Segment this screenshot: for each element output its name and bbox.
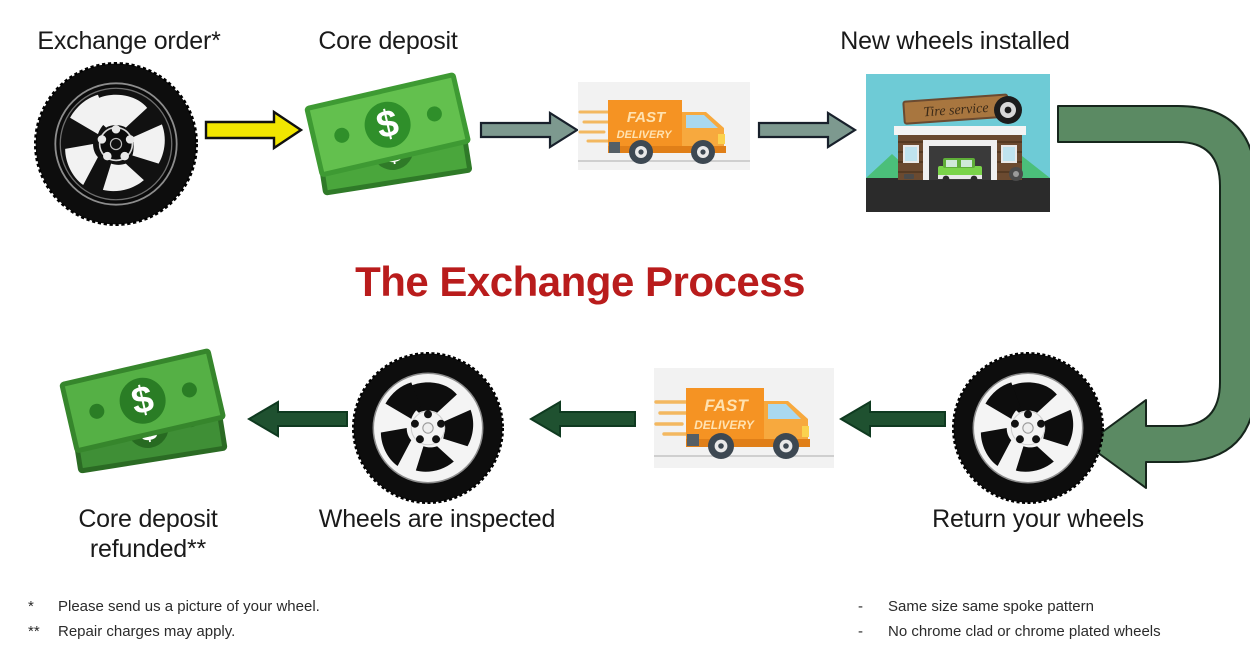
arrow-exchange-to-deposit: [204, 108, 304, 152]
footnote-right-2: - No chrome clad or chrome plated wheels: [858, 619, 1161, 644]
footnote-marker: -: [858, 619, 878, 644]
arrow-inspected-to-refund: [246, 400, 348, 438]
page-title: The Exchange Process: [0, 258, 1160, 306]
footnote-marker: *: [28, 594, 48, 619]
footnote-text: No chrome clad or chrome plated wheels: [888, 619, 1161, 644]
step-label-new-wheels-installed: New wheels installed: [790, 26, 1120, 56]
footnote-text: Same size same spoke pattern: [888, 594, 1094, 619]
footnotes-left: * Please send us a picture of your wheel…: [28, 594, 320, 644]
money-bills-icon-bottom: $ $: [58, 352, 234, 478]
arrow-return-to-shipping: [838, 400, 946, 438]
truck-text-fast: FAST: [704, 396, 749, 415]
fast-delivery-truck-icon-bottom: FAST DELIVERY: [654, 368, 834, 468]
footnotes-right: - Same size same spoke pattern - No chro…: [858, 594, 1161, 644]
alloy-wheel-light-icon-inspected: [352, 352, 504, 504]
alloy-wheel-dark-icon: [34, 62, 198, 226]
arrow-shipping-to-install: [758, 110, 858, 150]
tire-service-shop-icon: Tire service: [866, 74, 1050, 212]
truck-text-fast: FAST: [627, 109, 667, 126]
arrow-deposit-to-shipping: [480, 110, 580, 150]
footnote-left-1: * Please send us a picture of your wheel…: [28, 594, 320, 619]
fast-delivery-truck-icon-top: FAST DELIVERY: [578, 82, 750, 170]
footnote-left-2: ** Repair charges may apply.: [28, 619, 320, 644]
step-label-return-your-wheels: Return your wheels: [888, 504, 1188, 534]
arrow-shipping-to-inspected: [528, 400, 636, 438]
footnote-marker: -: [858, 594, 878, 619]
step-label-core-deposit: Core deposit: [268, 26, 508, 56]
footnote-right-1: - Same size same spoke pattern: [858, 594, 1161, 619]
truck-text-delivery: DELIVERY: [694, 418, 755, 432]
step-label-core-deposit-refunded: Core deposit refunded**: [22, 504, 274, 564]
infographic-canvas: Exchange order* Core deposit New wheels …: [0, 0, 1250, 666]
alloy-wheel-light-icon-return: [952, 352, 1104, 504]
step-label-exchange-order: Exchange order*: [0, 26, 258, 56]
truck-text-delivery: DELIVERY: [617, 129, 673, 141]
step-label-wheels-inspected: Wheels are inspected: [292, 504, 582, 534]
footnote-text: Repair charges may apply.: [58, 619, 235, 644]
footnote-text: Please send us a picture of your wheel.: [58, 594, 320, 619]
footnote-marker: **: [28, 619, 48, 644]
money-bills-icon-top: $ $: [303, 78, 479, 198]
